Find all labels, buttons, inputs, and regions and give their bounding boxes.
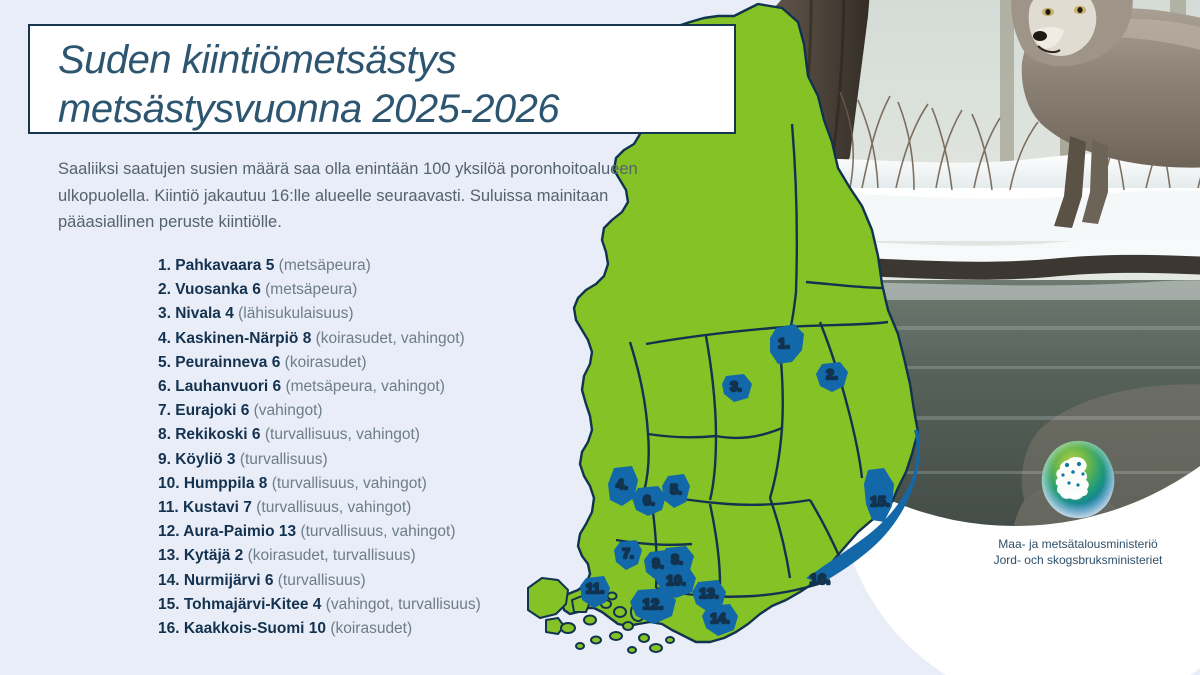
marker-label-14: 14. — [710, 610, 729, 626]
list-item-note: (metsäpeura, vahingot) — [285, 378, 444, 395]
list-item-head: 6. Lauhanvuori 6 — [158, 378, 281, 395]
ministry-emblem-icon — [1032, 438, 1124, 524]
marker-label-6: 6. — [643, 492, 655, 508]
list-item: 8. Rekikoski 6 (turvallisuus, vahingot) — [158, 423, 578, 447]
list-item-head: 15. Tohmajärvi-Kitee 4 — [158, 596, 321, 613]
list-item-head: 8. Rekikoski 6 — [158, 426, 261, 443]
list-item-head: 14. Nurmijärvi 6 — [158, 572, 273, 589]
list-item-head: 1. Pahkavaara 5 — [158, 257, 274, 274]
list-item-note: (turvallisuus, vahingot) — [272, 475, 427, 492]
list-item-head: 12. Aura-Paimio 13 — [158, 523, 296, 540]
list-item: 5. Peurainneva 6 (koirasudet) — [158, 351, 578, 375]
marker-label-1: 1. — [778, 335, 790, 351]
marker-label-15: 15. — [870, 493, 889, 509]
list-item-head: 9. Köyliö 3 — [158, 451, 236, 468]
list-item-head: 4. Kaskinen-Närpiö 8 — [158, 330, 311, 347]
list-item-head: 11. Kustavi 7 — [158, 499, 252, 516]
list-item-head: 16. Kaakkois-Suomi 10 — [158, 620, 326, 637]
marker-label-9: 9. — [652, 555, 664, 571]
list-item: 1. Pahkavaara 5 (metsäpeura) — [158, 254, 578, 278]
list-item: 14. Nurmijärvi 6 (turvallisuus) — [158, 569, 578, 593]
list-item: 4. Kaskinen-Närpiö 8 (koirasudet, vahing… — [158, 327, 578, 351]
list-item-head: 5. Peurainneva 6 — [158, 354, 280, 371]
list-item-note: (metsäpeura) — [279, 257, 371, 274]
list-item-note: (turvallisuus) — [240, 451, 328, 468]
list-item: 3. Nivala 4 (lähisukulaisuus) — [158, 302, 578, 326]
list-item-note: (koirasudet, turvallisuus) — [248, 547, 416, 564]
marker-label-5: 5. — [670, 481, 682, 497]
list-item-note: (turvallisuus) — [278, 572, 366, 589]
list-item: 6. Lauhanvuori 6 (metsäpeura, vahingot) — [158, 375, 578, 399]
list-item: 7. Eurajoki 6 (vahingot) — [158, 399, 578, 423]
list-item-head: 10. Humppila 8 — [158, 475, 267, 492]
list-item-note: (turvallisuus, vahingot) — [256, 499, 411, 516]
marker-label-4: 4. — [616, 476, 628, 492]
list-item: 12. Aura-Paimio 13 (turvallisuus, vahing… — [158, 520, 578, 544]
marker-label-8: 8. — [671, 551, 683, 567]
list-item: 9. Köyliö 3 (turvallisuus) — [158, 448, 578, 472]
list-item-note: (koirasudet) — [330, 620, 412, 637]
infographic-canvas: 1. 2. 3. 4. 5. 6. 7. 8. 9. 10. 11. 12. 1… — [0, 0, 1200, 675]
marker-label-10: 10. — [666, 572, 685, 588]
marker-label-7: 7. — [622, 545, 634, 561]
intro-paragraph: Saaliiksi saatujen susien määrä saa olla… — [58, 156, 648, 236]
list-item-note: (turvallisuus, vahingot) — [300, 523, 455, 540]
list-item: 15. Tohmajärvi-Kitee 4 (vahingot, turval… — [158, 593, 578, 617]
marker-label-16: 16. — [810, 571, 831, 588]
marker-label-11: 11. — [586, 580, 605, 596]
ministry-logo-block: Maa- ja metsätalousministeriö Jord- och … — [988, 438, 1168, 568]
list-item-note: (vahingot) — [254, 402, 323, 419]
list-item-note: (turvallisuus, vahingot) — [265, 426, 420, 443]
list-item: 11. Kustavi 7 (turvallisuus, vahingot) — [158, 496, 578, 520]
list-item-note: (lähisukulaisuus) — [238, 305, 353, 322]
list-item-head: 3. Nivala 4 — [158, 305, 234, 322]
list-item-head: 7. Eurajoki 6 — [158, 402, 249, 419]
marker-label-12: 12. — [643, 596, 664, 613]
list-item: 10. Humppila 8 (turvallisuus, vahingot) — [158, 472, 578, 496]
list-item-head: 13. Kytäjä 2 — [158, 547, 243, 564]
marker-label-13: 13. — [699, 585, 718, 601]
list-item-note: (metsäpeura) — [265, 281, 357, 298]
ministry-name: Maa- ja metsätalousministeriö Jord- och … — [988, 536, 1168, 568]
list-item: 16. Kaakkois-Suomi 10 (koirasudet) — [158, 617, 578, 641]
list-item-note: (koirasudet, vahingot) — [316, 330, 465, 347]
list-item: 2. Vuosanka 6 (metsäpeura) — [158, 278, 578, 302]
list-item-head: 2. Vuosanka 6 — [158, 281, 261, 298]
list-item: 13. Kytäjä 2 (koirasudet, turvallisuus) — [158, 544, 578, 568]
list-item-note: (vahingot, turvallisuus) — [326, 596, 481, 613]
title-box — [28, 24, 736, 134]
quota-list: 1. Pahkavaara 5 (metsäpeura) 2. Vuosanka… — [158, 254, 578, 641]
list-item-note: (koirasudet) — [285, 354, 367, 371]
marker-label-3: 3. — [730, 378, 742, 394]
marker-label-2: 2. — [826, 366, 838, 382]
